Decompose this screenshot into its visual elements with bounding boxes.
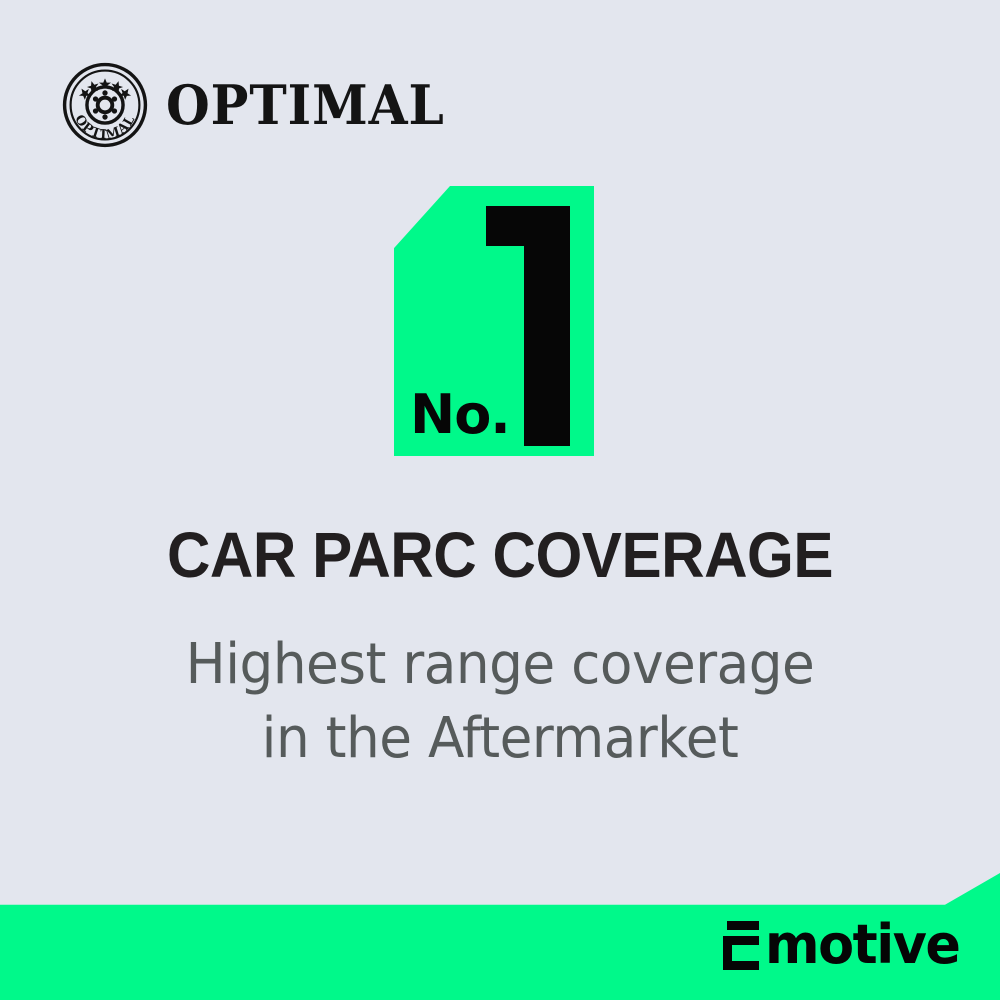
optimal-wordmark: OPTIMAL	[166, 78, 445, 132]
subtitle-line-2: in the Aftermarket	[25, 702, 975, 776]
page-title: CAR PARC COVERAGE	[30, 523, 970, 587]
emotive-logo: motive	[723, 920, 966, 970]
subtitle-line-1: Highest range coverage	[25, 628, 975, 702]
no1-badge: No.	[394, 186, 594, 456]
optimal-brand-lockup: OPTIMAL OPTIMAL	[62, 62, 466, 148]
optimal-seal-icon: OPTIMAL	[62, 62, 148, 148]
badge-rank-numeral-1	[478, 202, 588, 450]
poster-canvas: OPTIMAL OPTIMAL No. CAR PARC COVERAGE Hi…	[0, 0, 1000, 1000]
emotive-wordmark: motive	[765, 920, 960, 970]
page-subtitle: Highest range coverage in the Aftermarke…	[25, 628, 975, 777]
footer-bar: motive	[0, 873, 1000, 1000]
emotive-e-icon	[723, 920, 763, 970]
